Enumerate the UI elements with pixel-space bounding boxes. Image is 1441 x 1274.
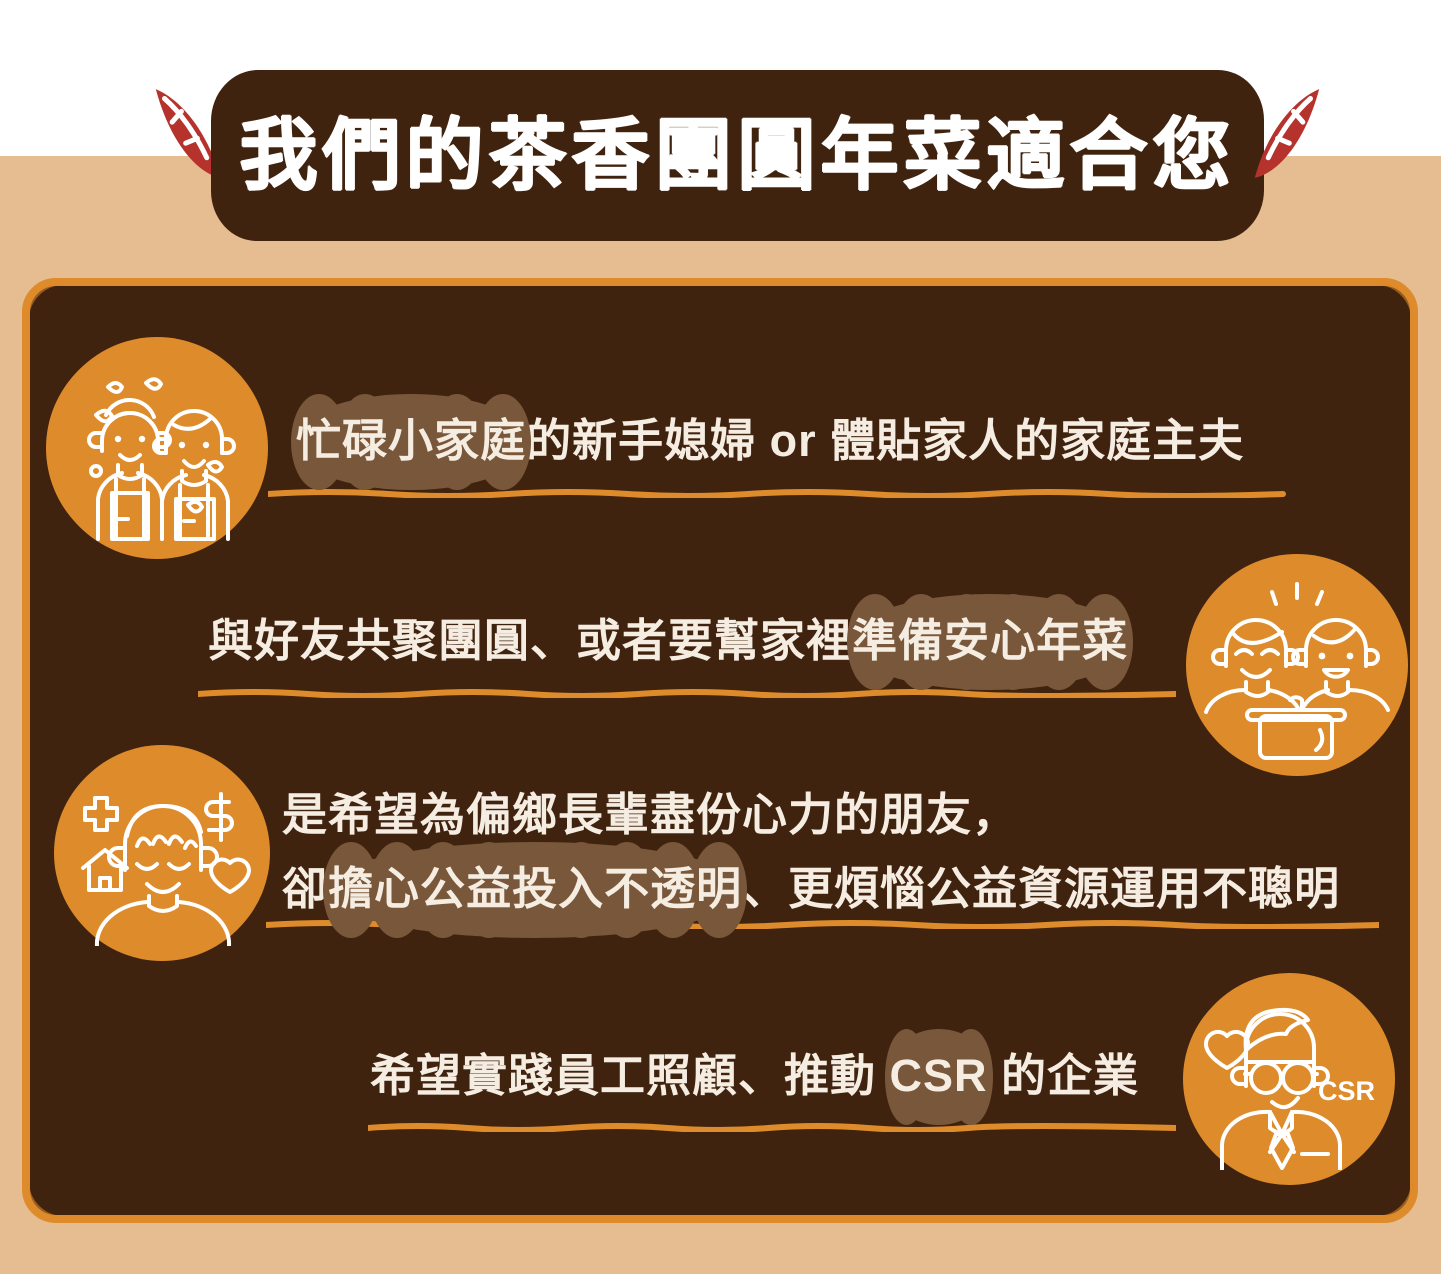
row-1-highlight: 忙碌小家庭 [296,404,526,478]
row-4-highlight: CSR [890,1039,988,1113]
feather-right-icon [1248,79,1325,189]
row-3-lead: 卻 [282,863,328,914]
row-1-rest: 的新手媳婦 or 體貼家人的家庭主夫 [526,415,1244,466]
row-3-text: 是希望為偏鄉長輩盡份心力的朋友， 卻擔心公益投入不透明、更煩惱公益資源運用不聰明 [282,778,1340,926]
couple-in-aprons-icon [48,339,266,557]
page-title: 我們的茶香團圓年菜適合您 [239,117,1235,195]
divider-2 [198,688,1176,698]
row-2-lead: 與好友共聚團圓、或者要幫家裡 [208,615,852,666]
row-2-text: 與好友共聚團圓、或者要幫家裡準備安心年菜 [208,604,1128,678]
row-3-highlight: 擔心公益投入不透明 [328,852,742,926]
row-3-line-1-text: 是希望為偏鄉長輩盡份心力的朋友， [282,789,1018,840]
row-4-tail: 的企業 [988,1050,1140,1101]
row-1-line-1: 忙碌小家庭的新手媳婦 or 體貼家人的家庭主夫 [296,404,1244,478]
row-2-line-1: 與好友共聚團圓、或者要幫家裡準備安心年菜 [208,604,1128,678]
divider-4 [368,1122,1176,1132]
title-badge: 我們的茶香團圓年菜適合您 [215,73,1260,238]
row-3-line-2: 卻擔心公益投入不透明、更煩惱公益資源運用不聰明 [282,852,1340,926]
row-4-line-1: 希望實踐員工照顧、推動 CSR 的企業 [370,1039,1139,1113]
row-3-line-1: 是希望為偏鄉長輩盡份心力的朋友， [282,778,1340,852]
row-4-lead: 希望實踐員工照顧、推動 [370,1050,890,1101]
row-2-highlight: 準備安心年菜 [852,604,1128,678]
businessman-csr-icon: CSR [1185,975,1393,1183]
row-3-tail: 、更煩惱公益資源運用不聰明 [742,863,1340,914]
poster-stage: 我們的茶香團圓年菜適合您 [0,0,1441,1274]
row-1-text: 忙碌小家庭的新手媳婦 or 體貼家人的家庭主夫 [296,404,1244,478]
elder-care-icon [56,747,268,959]
title-banner: 我們的茶香團圓年菜適合您 [215,73,1260,238]
friends-with-pot-icon [1188,556,1406,774]
row-4-text: 希望實踐員工照顧、推動 CSR 的企業 [370,1039,1139,1113]
